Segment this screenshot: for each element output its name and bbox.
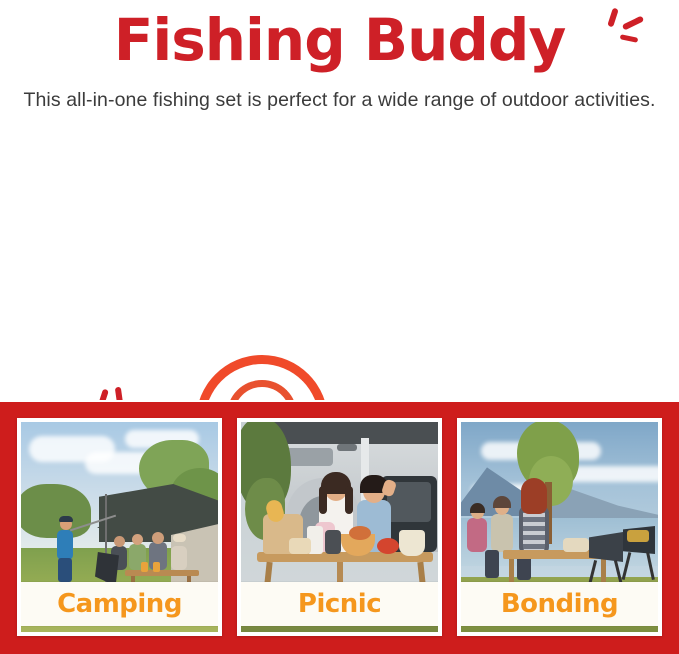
card-label: Camping: [57, 589, 182, 619]
card-label-strip: Camping: [21, 582, 218, 626]
card-label: Bonding: [501, 589, 618, 619]
card-inner: Camping: [21, 422, 218, 632]
card-inner: Picnic: [241, 422, 438, 632]
page-subtitle: This all-in-one fishing set is perfect f…: [0, 88, 679, 113]
use-cases-band: Camping: [0, 400, 679, 654]
use-case-card-camping[interactable]: Camping: [17, 418, 222, 636]
card-label-strip: Picnic: [241, 582, 438, 626]
product-section: DaddyGofish DaddyGofish: [0, 155, 679, 400]
card-label: Picnic: [298, 589, 381, 619]
title-wrap: Fishing Buddy: [0, 0, 679, 72]
use-case-cards: Camping: [17, 418, 662, 636]
sparkle-burst-icon: [596, 6, 656, 66]
card-label-strip: Bonding: [461, 582, 658, 626]
use-case-card-picnic[interactable]: Picnic: [237, 418, 442, 636]
header-section: Fishing Buddy This all-in-one fishing se…: [0, 0, 679, 150]
use-case-card-bonding[interactable]: Bonding: [457, 418, 662, 636]
product-infographic: Fishing Buddy This all-in-one fishing se…: [0, 0, 679, 654]
card-inner: Bonding: [461, 422, 658, 632]
page-title: Fishing Buddy: [114, 8, 566, 72]
